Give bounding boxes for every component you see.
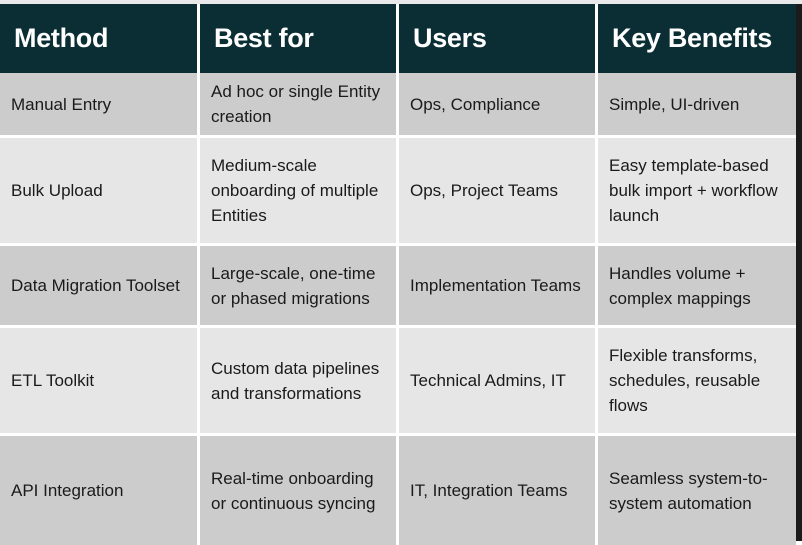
cell-method: Data Migration Toolset (0, 246, 200, 328)
table-row: Bulk Upload Medium-scale onboarding of m… (0, 138, 796, 246)
cell-best-for: Ad hoc or single Entity creation (200, 73, 399, 138)
cell-method: Bulk Upload (0, 138, 200, 246)
cell-users: Ops, Compliance (399, 73, 598, 138)
onboarding-methods-table: Method Best for Users Key Benefits Manua… (0, 4, 796, 545)
comparison-table: Method Best for Users Key Benefits Manua… (0, 0, 802, 541)
cell-best-for: Medium-scale onboarding of multiple Enti… (200, 138, 399, 246)
cell-key-benefits: Simple, UI-driven (598, 73, 796, 138)
table-row: API Integration Real-time onboarding or … (0, 436, 796, 545)
column-header-method: Method (0, 4, 200, 73)
cell-best-for: Large-scale, one-time or phased migratio… (200, 246, 399, 328)
column-header-key-benefits: Key Benefits (598, 4, 796, 73)
cell-key-benefits: Seamless system-to-system automation (598, 436, 796, 545)
cell-method: Manual Entry (0, 73, 200, 138)
table-row: Data Migration Toolset Large-scale, one-… (0, 246, 796, 328)
cell-users: Ops, Project Teams (399, 138, 598, 246)
cell-users: Technical Admins, IT (399, 328, 598, 436)
cell-key-benefits: Flexible transforms, schedules, reusable… (598, 328, 796, 436)
table-row: ETL Toolkit Custom data pipelines and tr… (0, 328, 796, 436)
table-header: Method Best for Users Key Benefits (0, 4, 796, 73)
column-header-best-for: Best for (200, 4, 399, 73)
cell-key-benefits: Handles volume + complex mappings (598, 246, 796, 328)
cell-method: API Integration (0, 436, 200, 545)
column-header-users: Users (399, 4, 598, 73)
table-header-row: Method Best for Users Key Benefits (0, 4, 796, 73)
table-body: Manual Entry Ad hoc or single Entity cre… (0, 73, 796, 545)
cell-key-benefits: Easy template-based bulk import + workfl… (598, 138, 796, 246)
cell-method: ETL Toolkit (0, 328, 200, 436)
right-edge-shadow (796, 4, 802, 541)
cell-best-for: Real-time onboarding or continuous synci… (200, 436, 399, 545)
cell-users: Implementation Teams (399, 246, 598, 328)
cell-best-for: Custom data pipelines and transformation… (200, 328, 399, 436)
table-row: Manual Entry Ad hoc or single Entity cre… (0, 73, 796, 138)
cell-users: IT, Integration Teams (399, 436, 598, 545)
